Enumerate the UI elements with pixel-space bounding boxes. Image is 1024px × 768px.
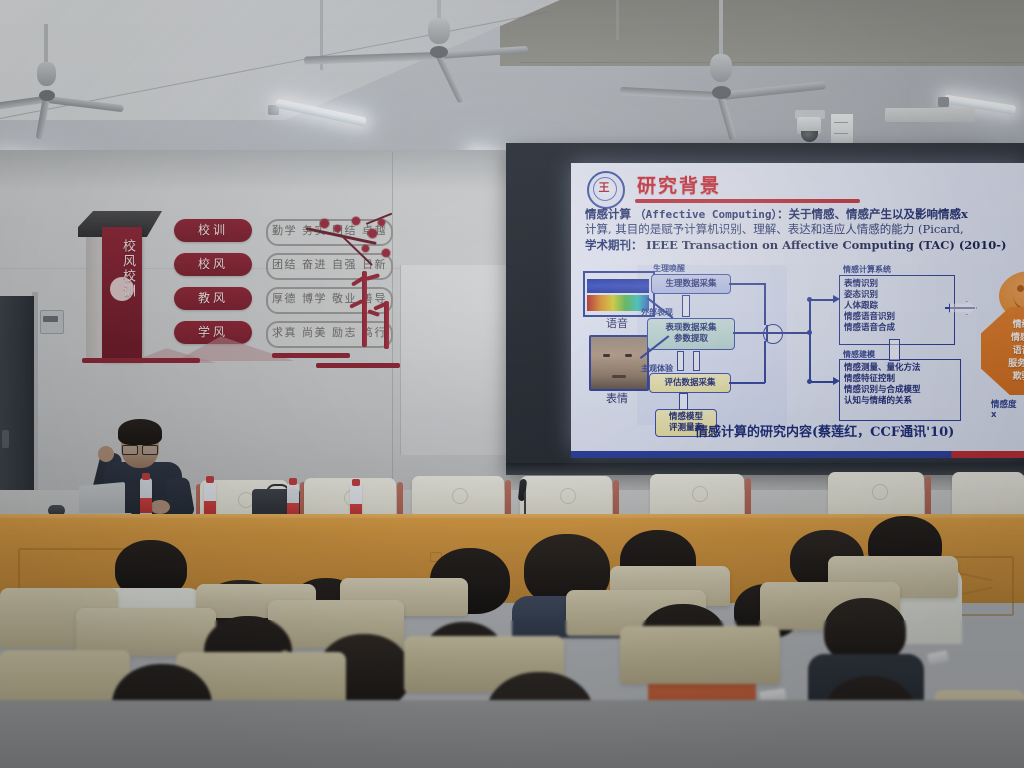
motto-tag-label: 学风 [174,321,252,344]
phone-device[interactable] [927,650,949,665]
motto-text-3: 求真 尚美 励志 笃行 [266,321,393,348]
motto-text-label: 团结 奋进 自强 日新 [268,255,391,275]
modeling-items-box: 情感测量、量化方法 情感特征控制 情感识别与合成模型 认知与情绪的关系 [839,359,961,421]
art-baseline [316,363,400,368]
face-mouth-icon [612,375,626,378]
floor [0,700,1024,768]
slide-line1-tail: ：关于情感、情感产生以及影响情感x [777,207,968,221]
speaker-hand [150,500,170,514]
connector-line [733,332,765,334]
modeling-item-1: 情感特征控制 [844,374,956,385]
bottle-cap [352,479,360,486]
door[interactable] [0,296,34,501]
wall-control-box[interactable] [830,113,854,145]
ceiling-fan-motor [710,54,732,82]
plum-flower-icon [352,217,360,225]
motto-tag-2: 教风 [174,287,252,310]
bottle-cap [142,473,150,480]
motto-column [86,229,102,361]
ceiling-fan-rod [44,24,48,66]
plum-flower-icon [368,229,377,238]
slide-journal-label: 学术期刊： [585,238,643,252]
application-item-4: 欺骗检x [981,371,1024,384]
modeling-item-0: 情感测量、量化方法 [844,363,956,374]
motto-tag-0: 校训 [174,219,252,242]
motto-tag-label: 教风 [174,287,252,310]
slide-title-rule [635,199,860,203]
connector-line [764,341,766,383]
plum-flower-icon [334,225,341,232]
motto-tag-1: 校风 [174,253,252,276]
tube-light-cap [938,97,949,107]
university-logo-mark: 王 [598,181,610,194]
audience-bench[interactable] [76,608,216,656]
light-switch-panel[interactable] [40,310,64,334]
bottle-cap [289,478,297,485]
connector-line [809,299,811,383]
ceiling-fan-motor [37,62,56,86]
wall-box-line [834,122,848,123]
input-expression-label: 表情 [585,390,649,406]
hollow-arrow-up [889,339,900,361]
face-eye-icon [625,354,632,357]
motto-tag-label: 校训 [174,219,252,242]
box-expression-collect: 表现数据采集 参数提取 [647,318,735,350]
application-item-3: 服务态度x [981,358,1024,371]
chair-logo-icon [692,486,708,502]
connector-line [764,283,766,325]
bottle-cap [206,476,214,483]
connector-line [781,332,809,334]
box-assess-collect: 评估数据采集 [649,373,731,393]
spectrogram-icon [587,295,649,311]
connector-line [729,382,765,384]
slide-diagram: 语音 表情 生理唤醒 外部表现 主观体验 生理数据采集 表现数据采集 参数提取 … [581,263,1017,438]
waveform-icon [587,279,649,293]
system-item-0: 表情识别 [844,279,950,290]
glasses-lens [142,445,158,455]
presentation-slide: 王 研究背景 情感计算 （Affective Computing）：关于情感、情… [571,163,1024,451]
plum-flower-icon [382,249,390,257]
hollow-arrow-up [679,393,688,410]
motto-text-label: 厚德 博学 敬业 善导 [268,289,391,309]
chair-logo-icon [560,488,576,504]
ceiling-dark-band [500,0,1024,66]
slide-line2: 计算, 其目的是赋予计算机识别、理解、表达和适应人情感的能力 (Picard, [585,222,1024,237]
modeling-item-2: 情感识别与合成模型 [844,385,956,396]
ceiling-fan-hub [39,90,55,101]
slide-term-en: （Affective Computing） [635,208,777,221]
ceiling-seam [520,62,1024,63]
projection-screen-edge [506,463,1024,475]
audience-bench[interactable] [620,626,780,684]
motto-text-label: 求真 尚美 励志 笃行 [268,323,391,343]
connector-line [810,381,834,383]
smiley-eye-icon [1017,285,1024,292]
application-item-0: 情绪感x [981,319,1024,332]
light-switch[interactable] [43,316,58,322]
system-item-3: 情感语音识别 [844,312,950,323]
wall-vent [885,108,975,122]
system-item-2: 人体跟踪 [844,301,950,312]
chair-logo-icon [872,484,888,500]
bamboo-stalk-icon [362,271,367,347]
bottle-label [140,498,152,513]
slide-caption: 情感计算的研究内容(蔡莲红，CCF通讯'10) [695,421,954,440]
ceiling-fan-hub [430,46,448,58]
slide-journal-text: IEEE Transaction on Affective Computing … [646,238,1006,252]
chair-logo-icon [452,488,468,504]
speaker-hand [98,446,114,462]
bamboo-stalk-icon [384,301,389,349]
system-caption: 情感计算系统 [843,264,891,275]
motto-tag-label: 校风 [174,253,252,276]
speaker-glasses-icon [122,445,158,453]
hollow-arrow-up [682,295,690,317]
box-expression-line1: 表现数据采集 [665,323,716,334]
door-handle[interactable] [2,430,9,448]
system-items-box: 表情识别 姿态识别 人体跟踪 情感语音识别 情感语音合成 [839,275,955,345]
system-item-4: 情感语音合成 [844,323,950,334]
ceiling-fan-rod [719,0,723,58]
application-octagon: 情绪感x 情感机器 语音生x 服务态度x 欺骗检x [981,307,1024,395]
glasses-lens [122,445,138,455]
slide-term-cn: 情感计算 [585,207,631,221]
face-eye-icon [603,354,610,357]
ceiling-fan-motor [428,18,450,44]
ceiling-beam [616,0,619,40]
connector-line [729,283,765,285]
slide-bottom-bar [571,451,1024,458]
system-item-1: 姿态识别 [844,290,950,301]
art-baseline [272,353,350,358]
plum-flower-icon [378,219,385,226]
box-physio-collect: 生理数据采集 [651,274,731,294]
slide-body: 情感计算 （Affective Computing）：关于情感、情感产生以及影响… [585,207,1024,253]
slide-title: 研究背景 [637,171,721,198]
lecture-hall-photo: 校风校训 校训 勤学 务实 团结 卓越 校风 团结 奋进 自强 日新 教风 厚德… [0,0,1024,768]
modeling-item-3: 认知与情绪的关系 [844,396,956,407]
plum-flower-icon [320,219,329,228]
connector-line [766,325,768,341]
application-label: 情感度x [991,398,1017,420]
motto-tag-3: 学风 [174,321,252,344]
application-item-2: 语音生x [981,345,1024,358]
box-expression-line2: 参数提取 [674,334,708,345]
application-item-1: 情感机器 [981,332,1024,345]
connector-line [810,299,834,301]
plum-flower-icon [362,245,369,252]
speaker-hair [118,419,162,445]
hollow-arrow-up [677,351,684,371]
motto-banner-text: 校风校训 [106,239,138,299]
art-baseline [82,358,200,363]
hollow-arrow-down [693,351,700,371]
input-expression-box [589,335,649,391]
wall-box-line [834,133,848,134]
school-motto-wall-art: 校风校训 校训 勤学 务实 团结 卓越 校风 团结 奋进 自强 日新 教风 厚德… [70,205,400,370]
ceiling-fan-hub [712,86,731,99]
diagram-caption-physio: 生理唤醒 [653,263,685,274]
